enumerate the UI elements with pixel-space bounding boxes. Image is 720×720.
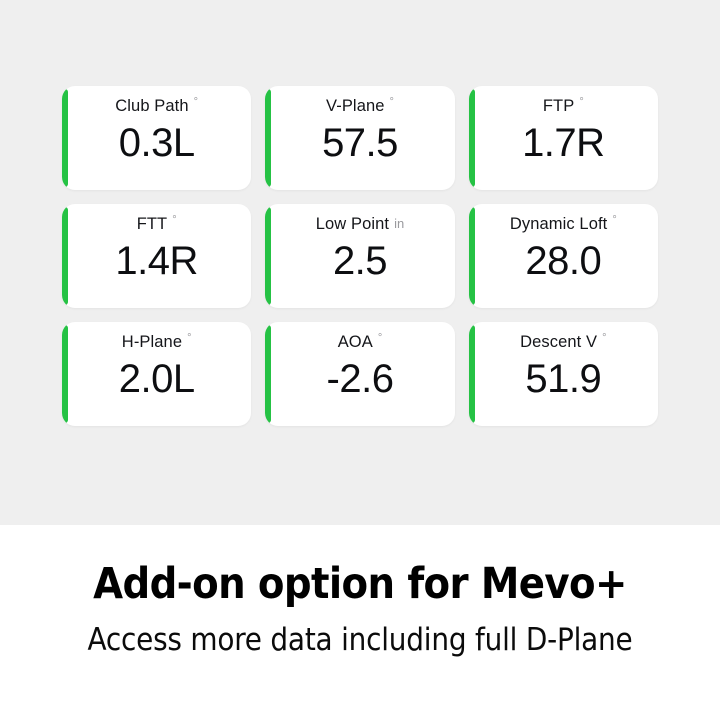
degree-icon: ° [602, 333, 606, 344]
metric-label: FTP [543, 98, 574, 115]
degree-icon: ° [187, 333, 191, 344]
metric-card-aoa[interactable]: AOA ° -2.6 [265, 322, 454, 426]
accent-bar-icon [265, 207, 271, 305]
metric-header: H-Plane ° [122, 334, 192, 351]
metric-card-dynamic-loft[interactable]: Dynamic Loft ° 28.0 [469, 204, 658, 308]
degree-icon: ° [172, 215, 176, 226]
accent-bar-icon [469, 325, 475, 423]
promo-title: Add-on option for Mevo+ [93, 561, 627, 607]
metric-header: V-Plane ° [326, 98, 394, 115]
metric-card-h-plane[interactable]: H-Plane ° 2.0L [62, 322, 251, 426]
metric-card-low-point[interactable]: Low Point in 2.5 [265, 204, 454, 308]
accent-bar-icon [265, 325, 271, 423]
metric-value: 1.4R [115, 240, 198, 282]
metric-header: AOA ° [338, 334, 383, 351]
metric-label: Descent V [520, 334, 597, 351]
accent-bar-icon [265, 89, 271, 187]
metric-label: H-Plane [122, 334, 182, 351]
metric-header: FTP ° [543, 98, 584, 115]
metric-label: Low Point [316, 216, 389, 233]
metric-value: 0.3L [119, 122, 195, 164]
metric-card-club-path[interactable]: Club Path ° 0.3L [62, 86, 251, 190]
metric-header: Dynamic Loft ° [510, 216, 617, 233]
accent-bar-icon [469, 89, 475, 187]
metric-card-ftp[interactable]: FTP ° 1.7R [469, 86, 658, 190]
degree-icon: ° [579, 97, 583, 108]
metric-value: 51.9 [525, 358, 601, 400]
accent-bar-icon [62, 207, 68, 305]
metric-label: AOA [338, 334, 373, 351]
app-root: Club Path ° 0.3L V-Plane ° 57.5 FTP ° [0, 0, 720, 720]
metric-card-ftt[interactable]: FTT ° 1.4R [62, 204, 251, 308]
metric-value: 57.5 [322, 122, 398, 164]
metric-value: 1.7R [522, 122, 605, 164]
metric-value: 28.0 [525, 240, 601, 282]
accent-bar-icon [62, 89, 68, 187]
metric-card-descent-v[interactable]: Descent V ° 51.9 [469, 322, 658, 426]
degree-icon: ° [378, 333, 382, 344]
metric-value: 2.0L [119, 358, 195, 400]
accent-bar-icon [62, 325, 68, 423]
metric-header: Descent V ° [520, 334, 606, 351]
metric-value: 2.5 [333, 240, 387, 282]
metric-card-v-plane[interactable]: V-Plane ° 57.5 [265, 86, 454, 190]
metric-label: Club Path [115, 98, 188, 115]
metric-label: V-Plane [326, 98, 385, 115]
metric-value: -2.6 [327, 358, 394, 400]
promo-subtitle: Access more data including full D-Plane [88, 623, 633, 657]
metric-label: Dynamic Loft [510, 216, 608, 233]
metric-header: FTT ° [137, 216, 177, 233]
degree-icon: ° [194, 97, 198, 108]
promo-panel: Add-on option for Mevo+ Access more data… [0, 525, 720, 720]
unit-label: in [394, 217, 404, 230]
degree-icon: ° [390, 97, 394, 108]
metrics-panel: Club Path ° 0.3L V-Plane ° 57.5 FTP ° [0, 0, 720, 525]
metric-label: FTT [137, 216, 168, 233]
degree-icon: ° [612, 215, 616, 226]
metrics-grid: Club Path ° 0.3L V-Plane ° 57.5 FTP ° [62, 86, 658, 426]
metric-header: Club Path ° [115, 98, 198, 115]
accent-bar-icon [469, 207, 475, 305]
metric-header: Low Point in [316, 216, 405, 233]
